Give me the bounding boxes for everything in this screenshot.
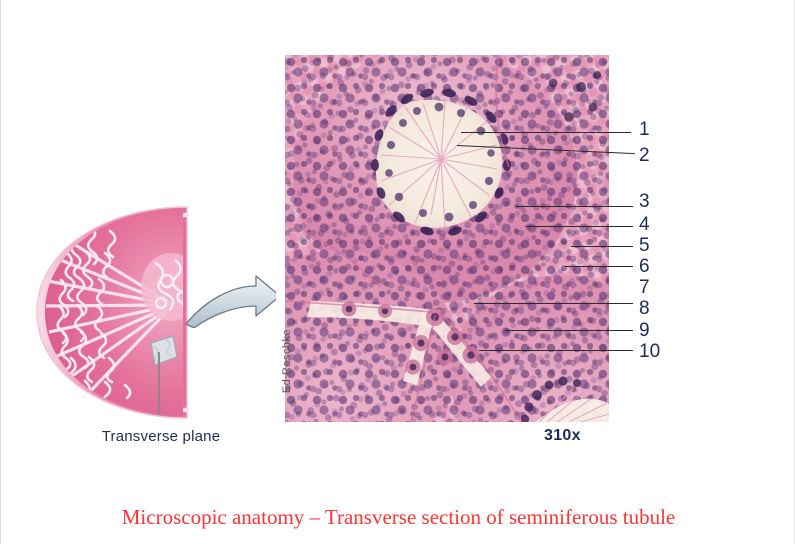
- callout-leader-3: [516, 206, 633, 207]
- callout-number-2[interactable]: 2: [639, 146, 650, 165]
- slide-caption: Microscopic anatomy – Transverse section…: [1, 505, 795, 530]
- magnification-label: 310x: [544, 427, 581, 445]
- micrograph-image: [285, 55, 609, 422]
- callout-number-7[interactable]: 7: [639, 278, 650, 297]
- callout-number-4[interactable]: 4: [639, 215, 650, 234]
- callout-number-8[interactable]: 8: [639, 299, 650, 318]
- photographer-credit: Ed Reschke: [281, 316, 293, 406]
- callout-leader-9: [505, 330, 633, 331]
- callout-number-1[interactable]: 1: [639, 120, 650, 139]
- histology-micrograph: Ed Reschke: [276, 55, 609, 422]
- callout-leader-5: [571, 246, 633, 247]
- transverse-plane-pointer: [158, 352, 160, 414]
- callout-number-5[interactable]: 5: [639, 236, 650, 255]
- callout-number-10[interactable]: 10: [639, 342, 660, 361]
- callout-number-6[interactable]: 6: [639, 257, 650, 276]
- callout-leader-6: [565, 266, 633, 267]
- transverse-plane-label: Transverse plane: [61, 428, 261, 445]
- slide-canvas: Transverse plane: [0, 0, 795, 544]
- magnify-arrow-icon: [184, 272, 284, 328]
- callout-leader-8: [474, 303, 633, 304]
- callout-leader-4: [526, 226, 633, 227]
- callout-leader-10: [479, 350, 633, 351]
- callout-number-9[interactable]: 9: [639, 321, 650, 340]
- callout-leader-1: [461, 132, 631, 133]
- callout-number-3[interactable]: 3: [639, 192, 650, 211]
